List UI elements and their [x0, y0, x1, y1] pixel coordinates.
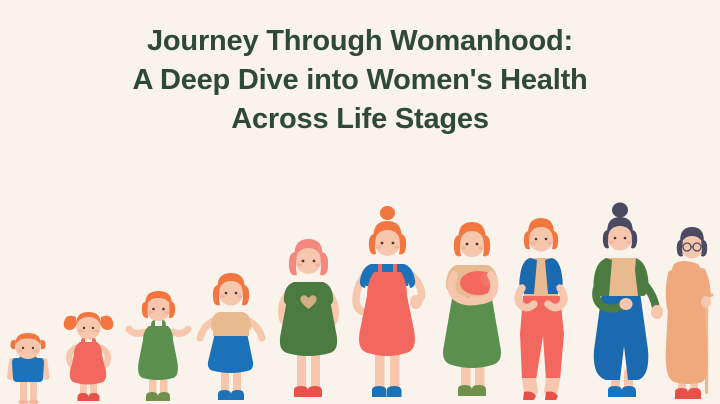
poster-canvas: Journey Through Womanhood: A Deep Dive i…	[0, 0, 720, 404]
mature-head	[603, 203, 637, 251]
title-line-2: A Deep Dive into Women's Health	[0, 61, 720, 100]
teen-head	[289, 239, 328, 275]
figure-toddler-girl	[57, 302, 119, 404]
girl-head	[142, 291, 175, 321]
figure-teen-girl	[266, 220, 350, 404]
elderly-head	[677, 227, 707, 259]
title-line-1: Journey Through Womanhood:	[0, 22, 720, 61]
life-stage-figure-row	[0, 144, 720, 404]
title-line-3: Across Life Stages	[0, 100, 720, 139]
mother-head	[454, 222, 490, 257]
teen-dress	[280, 282, 337, 356]
figure-young-girl	[122, 280, 194, 404]
figure-young-woman	[342, 202, 432, 404]
professional-head	[524, 218, 558, 252]
youngwoman-head	[369, 206, 406, 256]
toddler-dress	[70, 337, 107, 385]
figure-preteen-girl	[192, 258, 268, 404]
figure-professional-woman	[500, 204, 582, 404]
preteen-skirt	[208, 333, 253, 373]
figure-baby-girl	[0, 332, 56, 404]
page-title: Journey Through Womanhood: A Deep Dive i…	[0, 22, 720, 139]
toddler-head	[64, 312, 114, 340]
figure-elderly-woman	[660, 216, 720, 404]
baby-romper	[12, 356, 44, 382]
preteen-top	[211, 312, 251, 336]
professional-feet	[522, 378, 560, 400]
preteen-head	[213, 273, 249, 306]
figure-mature-woman	[576, 200, 666, 404]
baby-head	[10, 333, 45, 359]
